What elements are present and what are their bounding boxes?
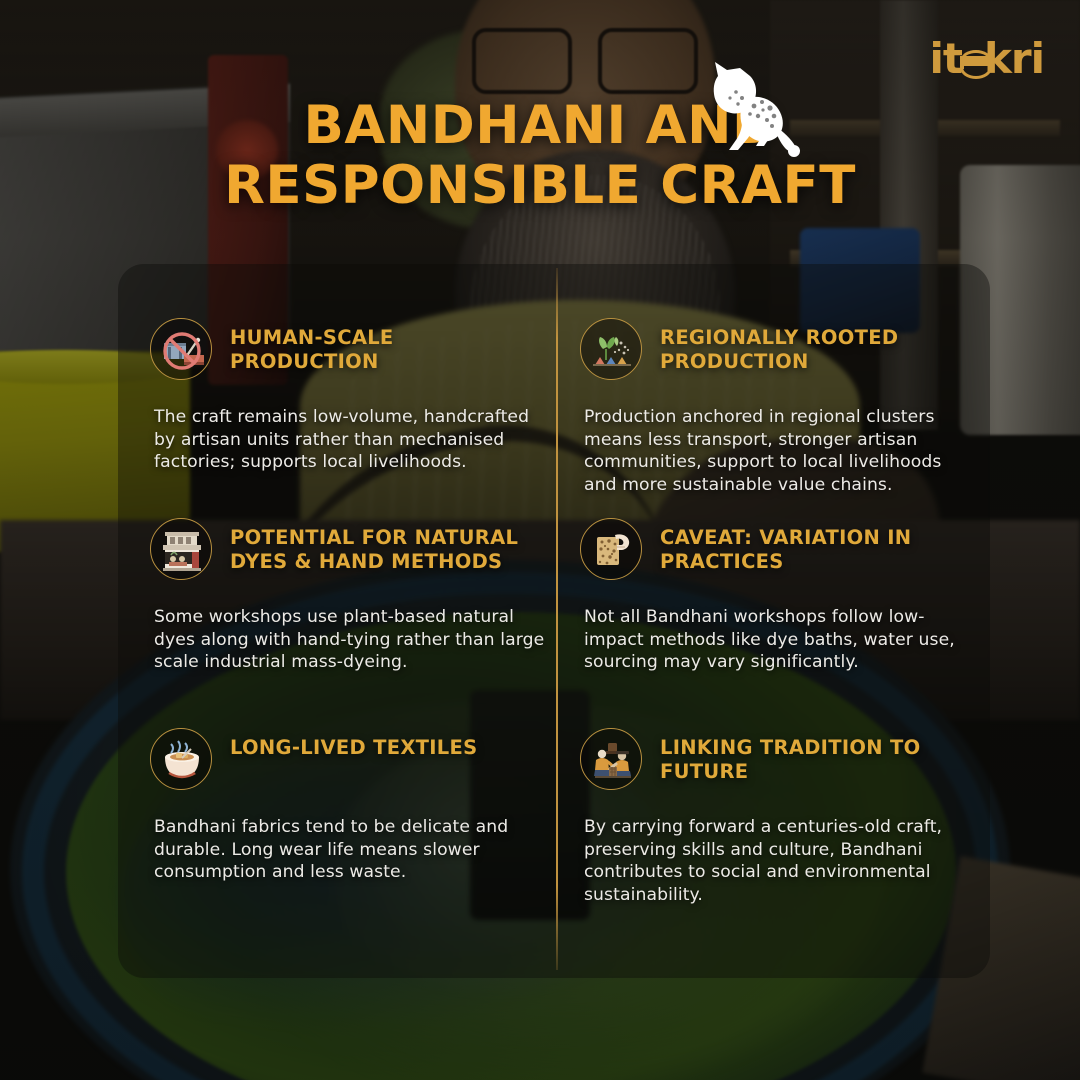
card-header: POTENTIAL FOR NATURAL DYES & HAND METHOD… xyxy=(150,518,550,580)
card-regionally-rooted-production: REGIONALLY ROOTED PRODUCTION Production … xyxy=(580,318,980,497)
card-body: Some workshops use plant-based natural d… xyxy=(154,606,546,674)
card-body: Bandhani fabrics tend to be delicate and… xyxy=(154,816,546,884)
card-potential-for-natural-dyes: POTENTIAL FOR NATURAL DYES & HAND METHOD… xyxy=(150,518,550,674)
card-body: By carrying forward a centuries-old craf… xyxy=(584,816,976,907)
page-title: BANDHANI AND RESPONSIBLE CRAFT xyxy=(0,96,1080,216)
hand-holding-fabric-swatch-icon xyxy=(580,518,642,580)
logo-text-right: kri xyxy=(984,34,1044,83)
card-title: HUMAN-SCALE PRODUCTION xyxy=(230,318,530,375)
itokri-logo[interactable]: itkri xyxy=(929,38,1044,80)
logo-text-left: it xyxy=(929,34,961,83)
card-long-lived-textiles: LONG-LIVED TEXTILES Bandhani fabrics ten… xyxy=(150,728,550,884)
two-artisans-working-icon xyxy=(580,728,642,790)
infographic-poster: itkri BANDHANI AND RESPONSIBLE CRAFT xyxy=(0,0,1080,1080)
no-factory-machine-icon xyxy=(150,318,212,380)
card-title: LONG-LIVED TEXTILES xyxy=(230,728,478,760)
card-title: CAVEAT: VARIATION IN PRACTICES xyxy=(660,518,960,575)
artisan-workshop-building-icon xyxy=(150,518,212,580)
card-header: CAVEAT: VARIATION IN PRACTICES xyxy=(580,518,980,580)
card-human-scale-production: HUMAN-SCALE PRODUCTION The craft remains… xyxy=(150,318,550,474)
cat-silhouette-icon xyxy=(694,58,804,163)
title-line-2: RESPONSIBLE CRAFT xyxy=(0,156,1080,216)
card-title: REGIONALLY ROOTED PRODUCTION xyxy=(660,318,960,375)
card-header: HUMAN-SCALE PRODUCTION xyxy=(150,318,550,380)
steaming-dye-pot-icon xyxy=(150,728,212,790)
basket-icon xyxy=(960,50,986,76)
card-title: LINKING TRADITION TO FUTURE xyxy=(660,728,980,785)
card-body: The craft remains low-volume, handcrafte… xyxy=(154,406,546,474)
sprouting-plants-icon xyxy=(580,318,642,380)
card-caveat-variation-in-practices: CAVEAT: VARIATION IN PRACTICES Not all B… xyxy=(580,518,980,674)
card-title: POTENTIAL FOR NATURAL DYES & HAND METHOD… xyxy=(230,518,530,575)
column-divider xyxy=(556,268,558,970)
card-header: REGIONALLY ROOTED PRODUCTION xyxy=(580,318,980,380)
card-header: LONG-LIVED TEXTILES xyxy=(150,728,550,790)
card-body: Not all Bandhani workshops follow low-im… xyxy=(584,606,976,674)
card-linking-tradition-to-future: LINKING TRADITION TO FUTURE By carrying … xyxy=(580,728,980,907)
card-header: LINKING TRADITION TO FUTURE xyxy=(580,728,980,790)
card-body: Production anchored in regional clusters… xyxy=(584,406,976,497)
